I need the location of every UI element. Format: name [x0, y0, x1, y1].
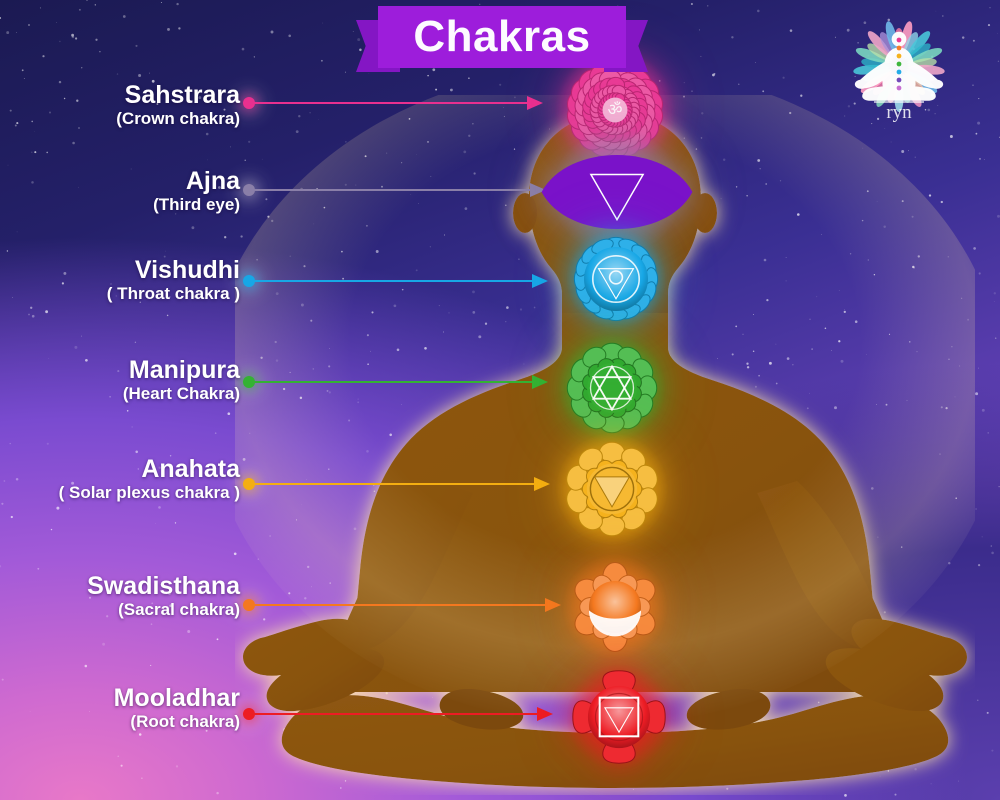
- chakra-label-subtitle: (Third eye): [153, 194, 240, 215]
- chakra-label-name: Mooladhar: [114, 685, 240, 711]
- chakra-label-subtitle: ( Throat chakra ): [107, 283, 240, 304]
- chakra-label-sahasrara: Sahstrara(Crown chakra): [116, 82, 240, 130]
- chakra-label-name: Anahata: [59, 456, 240, 482]
- chakra-label-name: Manipura: [123, 357, 240, 383]
- connector-line: [251, 483, 540, 485]
- chakra-label-vishuddha: Vishudhi( Throat chakra ): [107, 257, 240, 305]
- page-title: Chakras: [356, 6, 648, 68]
- chakra-symbol-manipura-yellow: [554, 431, 671, 548]
- connector-line: [251, 604, 551, 606]
- connector-line: [251, 713, 543, 715]
- connector-arrowhead-icon: [532, 375, 548, 389]
- chakra-label-anahata-green: Manipura(Heart Chakra): [123, 357, 240, 405]
- chakra-label-name: Swadisthana: [87, 573, 240, 599]
- connector-svadhisthana: [243, 596, 561, 614]
- chakra-label-subtitle: ( Solar plexus chakra ): [59, 482, 240, 503]
- connector-arrowhead-icon: [527, 96, 543, 110]
- connector-line: [251, 280, 538, 282]
- lotus-meditation-logo: ryn: [836, 8, 962, 126]
- connector-vishuddha: [243, 272, 548, 290]
- connector-line: [251, 189, 536, 191]
- connector-arrowhead-icon: [537, 707, 553, 721]
- connector-sahasrara: [243, 94, 543, 112]
- connector-line: [251, 381, 538, 383]
- connector-anahata-green: [243, 373, 548, 391]
- chakra-label-subtitle: (Heart Chakra): [123, 383, 240, 404]
- chakra-label-name: Ajna: [153, 168, 240, 194]
- chakra-label-subtitle: (Root chakra): [114, 711, 240, 732]
- connector-muladhara: [243, 705, 553, 723]
- chakra-symbol-muladhara: [564, 662, 673, 771]
- connector-arrowhead-icon: [545, 598, 561, 612]
- chakra-label-name: Sahstrara: [116, 82, 240, 108]
- title-ribbon: Chakras: [356, 6, 648, 74]
- logo-wordmark: ryn: [886, 102, 912, 123]
- chakra-symbol-svadhisthana: [560, 552, 669, 661]
- connector-manipura-yellow: [243, 475, 550, 493]
- chakra-label-ajna: Ajna(Third eye): [153, 168, 240, 216]
- connector-line: [251, 102, 533, 104]
- chakra-symbol-vishuddha: [564, 227, 668, 331]
- connector-ajna: [243, 181, 546, 199]
- chakra-label-name: Vishudhi: [107, 257, 240, 283]
- chakra-label-manipura-yellow: Anahata( Solar plexus chakra ): [59, 456, 240, 504]
- connector-arrowhead-icon: [534, 477, 550, 491]
- connector-arrowhead-icon: [532, 274, 548, 288]
- chakra-label-subtitle: (Sacral chakra): [87, 599, 240, 620]
- chakra-label-subtitle: (Crown chakra): [116, 108, 240, 129]
- svg-text:ॐ: ॐ: [608, 100, 623, 119]
- chakra-label-muladhara: Mooladhar(Root chakra): [114, 685, 240, 733]
- chakra-symbol-anahata-green: [556, 332, 668, 444]
- chakra-label-svadhisthana: Swadisthana(Sacral chakra): [87, 573, 240, 621]
- chakras-infographic: Sahstrara(Crown chakra)Ajna(Third eye)Vi…: [0, 0, 1000, 800]
